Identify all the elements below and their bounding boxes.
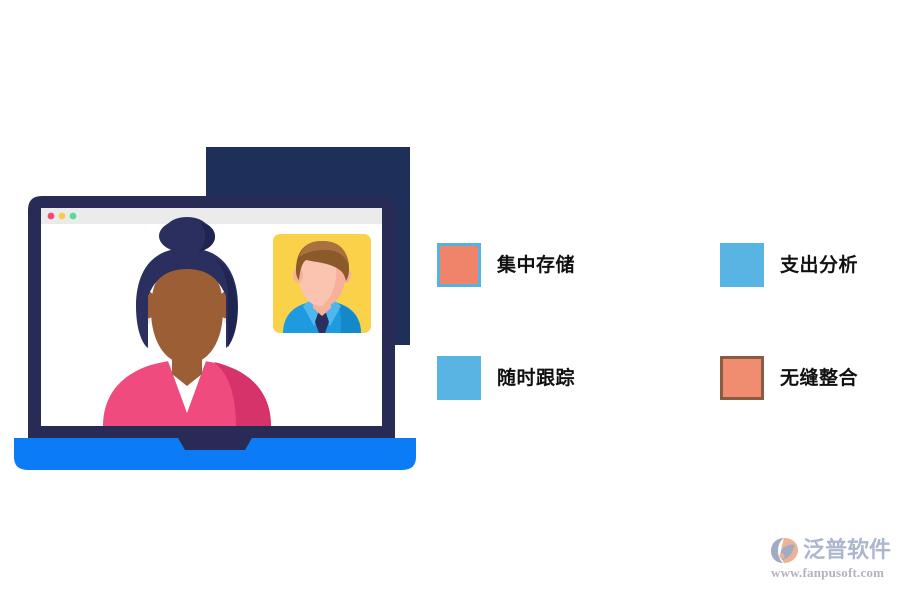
laptop-notch — [178, 438, 252, 450]
woman-face — [151, 264, 223, 364]
video-call-illustration — [0, 130, 430, 480]
woman-hair-bun-top — [166, 217, 208, 241]
feature-item-seamless-integration[interactable]: 无缝整合 — [720, 356, 858, 400]
feature-swatch-seamless-integration — [720, 356, 764, 400]
close-dot-icon — [48, 213, 55, 220]
feature-legend: 集中存储 支出分析 随时跟踪 无缝整合 — [437, 243, 887, 408]
watermark-url-text: www.fanpusoft.com — [771, 566, 884, 579]
feature-label-seamless-integration: 无缝整合 — [780, 369, 858, 388]
feature-swatch-centralized-storage — [437, 243, 481, 287]
maximize-dot-icon — [70, 213, 77, 220]
feature-label-centralized-storage: 集中存储 — [497, 256, 575, 275]
man-video-thumbnail — [273, 234, 371, 333]
feature-swatch-expense-analysis — [720, 243, 764, 287]
feature-item-expense-analysis[interactable]: 支出分析 — [720, 243, 858, 287]
minimize-dot-icon — [59, 213, 66, 220]
watermark-brand-row: 泛普软件 — [770, 535, 891, 565]
brand-watermark: 泛普软件 www.fanpusoft.com — [770, 535, 892, 585]
feature-item-anytime-tracking[interactable]: 随时跟踪 — [437, 356, 575, 400]
feature-swatch-anytime-tracking — [437, 356, 481, 400]
laptop-video-call-graphic — [0, 130, 430, 480]
watermark-brand-text: 泛普软件 — [803, 539, 891, 561]
page-canvas: 集中存储 支出分析 随时跟踪 无缝整合 泛普软件 www.fanpusoft.c… — [0, 0, 900, 600]
browser-titlebar — [41, 208, 382, 224]
feature-label-anytime-tracking: 随时跟踪 — [497, 369, 575, 388]
fanpu-logo-icon — [770, 536, 800, 564]
feature-item-centralized-storage[interactable]: 集中存储 — [437, 243, 575, 287]
logo-dot — [779, 553, 784, 558]
feature-label-expense-analysis: 支出分析 — [780, 256, 858, 275]
